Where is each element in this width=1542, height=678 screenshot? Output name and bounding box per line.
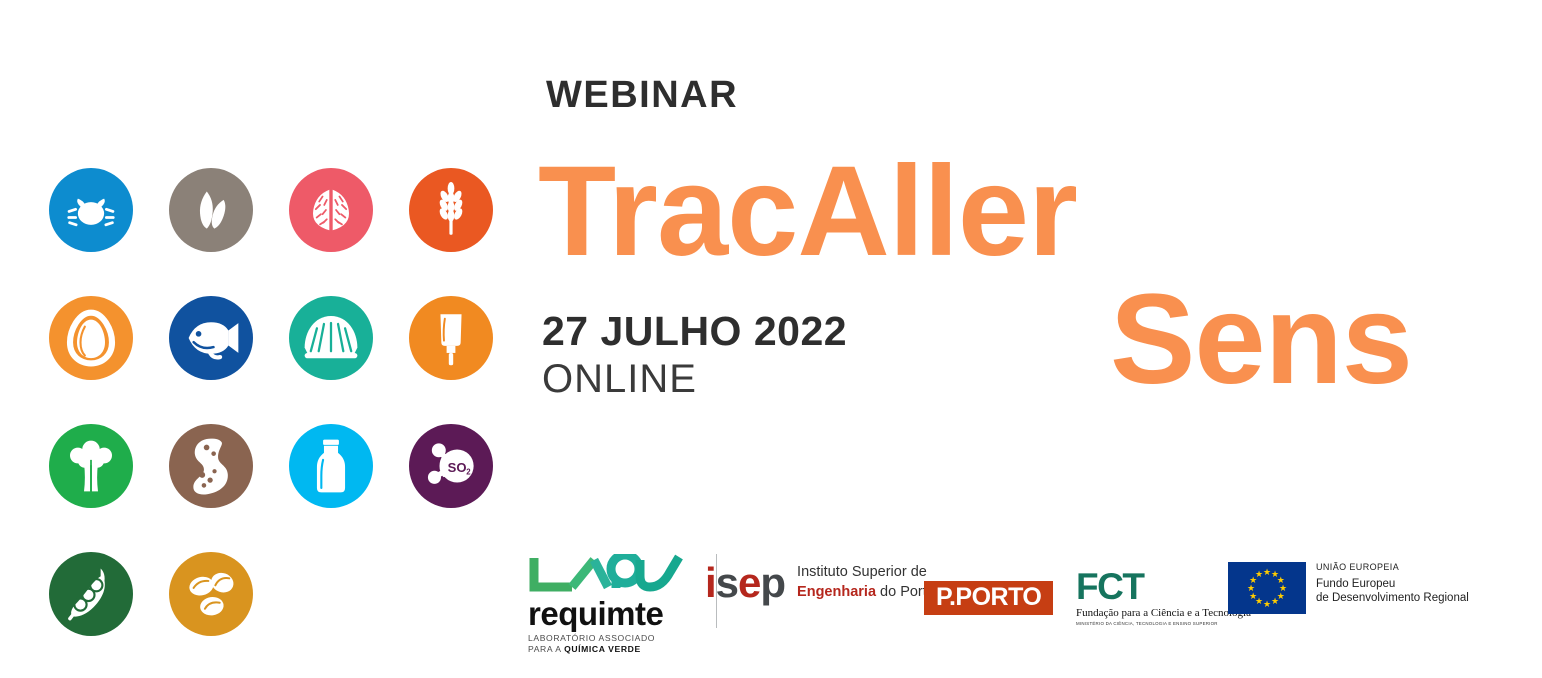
allergen-celery — [49, 424, 133, 508]
allergen-cereals — [409, 168, 493, 252]
logo-fct: FCT Fundação para a Ciência e a Tecnolog… — [1076, 568, 1221, 626]
allergen-fish — [169, 296, 253, 380]
lupin-beans-icon — [183, 567, 239, 621]
isep-name-line-1: Instituto Superior de — [797, 563, 935, 583]
peanut-icon — [188, 436, 234, 496]
fct-wordmark: FCT — [1076, 568, 1221, 605]
sponsor-logo-strip: requimte LABORATÓRIO ASSOCIADO PARA A QU… — [528, 548, 1448, 638]
fct-full-name: Fundação para a Ciência e a Tecnologia — [1076, 607, 1221, 619]
requimte-tagline: LABORATÓRIO ASSOCIADO PARA A QUÍMICA VER… — [528, 633, 688, 654]
allergen-icon-grid: SO 2 — [49, 168, 499, 638]
poster-canvas: SO 2 WEBINAR TracAller Sens 27 JULHO 202… — [0, 0, 1542, 678]
crab-icon — [63, 182, 119, 238]
scallop-shell-icon — [302, 312, 360, 364]
allergen-sesame — [169, 168, 253, 252]
requimte-tagline-prefix: PARA A — [528, 644, 564, 654]
so2-molecule-icon: SO 2 — [423, 439, 479, 493]
event-mode: ONLINE — [542, 359, 697, 399]
isep-name-highlight: Engenharia — [797, 584, 876, 600]
isep-letter-s: s — [716, 559, 738, 606]
eu-star-icon: ★ — [1247, 584, 1256, 593]
logo-european-union: ★★★★★★★★★★★★ UNIÃO EUROPEIA Fundo Europe… — [1228, 562, 1469, 614]
event-title-line-1: TracAller — [538, 148, 1077, 276]
allergen-soya — [49, 552, 133, 636]
walnut-icon — [304, 183, 358, 237]
logo-pporto: P.PORTO — [924, 581, 1053, 615]
webinar-kicker: WEBINAR — [546, 76, 738, 114]
isep-letter-p: p — [760, 559, 785, 606]
isep-letter-i: i — [705, 559, 716, 606]
requimte-symbol-icon — [528, 554, 683, 594]
logo-isep: isep Instituto Superior de Engenharia do… — [705, 562, 935, 604]
eu-fund-label: Fundo Europeu de Desenvolvimento Regiona… — [1316, 577, 1469, 606]
milk-bottle-icon — [311, 437, 351, 495]
requimte-wordmark: requimte — [528, 597, 688, 630]
eu-fund-line-1: Fundo Europeu — [1316, 577, 1469, 591]
eu-union-label: UNIÃO EUROPEIA — [1316, 563, 1469, 572]
allergen-sulphites: SO 2 — [409, 424, 493, 508]
allergen-molluscs — [289, 296, 373, 380]
eu-star-icon: ★ — [1263, 600, 1272, 609]
eu-star-icon: ★ — [1255, 570, 1264, 579]
allergen-lupin — [169, 552, 253, 636]
sesame-seeds-icon — [184, 183, 238, 237]
eu-text-block: UNIÃO EUROPEIA Fundo Europeu de Desenvol… — [1316, 562, 1469, 606]
celery-icon — [63, 437, 119, 495]
requimte-tagline-bold: QUÍMICA VERDE — [564, 644, 641, 654]
allergen-tree-nuts — [289, 168, 373, 252]
isep-full-name: Instituto Superior de Engenharia do Port… — [797, 563, 935, 602]
eu-flag-icon: ★★★★★★★★★★★★ — [1228, 562, 1306, 614]
wheat-ear-icon — [425, 182, 477, 238]
mustard-bottle-icon — [433, 309, 469, 367]
egg-icon — [63, 309, 119, 367]
allergen-peanuts — [169, 424, 253, 508]
allergen-mustard — [409, 296, 493, 380]
event-date: 27 JULHO 2022 — [542, 311, 847, 352]
isep-name-line-2: Engenharia do Porto — [797, 583, 935, 603]
allergen-crustaceans — [49, 168, 133, 252]
svg-text:2: 2 — [466, 468, 471, 477]
fct-ministry-line: MINISTÉRIO DA CIÊNCIA, TECNOLOGIA E ENSI… — [1076, 621, 1221, 626]
soybean-pod-icon — [65, 565, 117, 623]
svg-text:SO: SO — [448, 460, 467, 475]
isep-wordmark: isep — [705, 562, 785, 604]
fish-icon — [182, 313, 240, 363]
allergen-milk — [289, 424, 373, 508]
requimte-tagline-line-2: PARA A QUÍMICA VERDE — [528, 644, 688, 655]
allergen-eggs — [49, 296, 133, 380]
eu-star-icon: ★ — [1271, 597, 1280, 606]
eu-star-icon: ★ — [1249, 592, 1258, 601]
isep-divider — [716, 554, 717, 628]
event-title-line-2: Sens — [1110, 276, 1412, 404]
isep-letter-e: e — [738, 559, 760, 606]
logo-requimte: requimte LABORATÓRIO ASSOCIADO PARA A QU… — [528, 554, 688, 654]
eu-fund-line-2: de Desenvolvimento Regional — [1316, 591, 1469, 605]
requimte-tagline-line-1: LABORATÓRIO ASSOCIADO — [528, 633, 688, 644]
